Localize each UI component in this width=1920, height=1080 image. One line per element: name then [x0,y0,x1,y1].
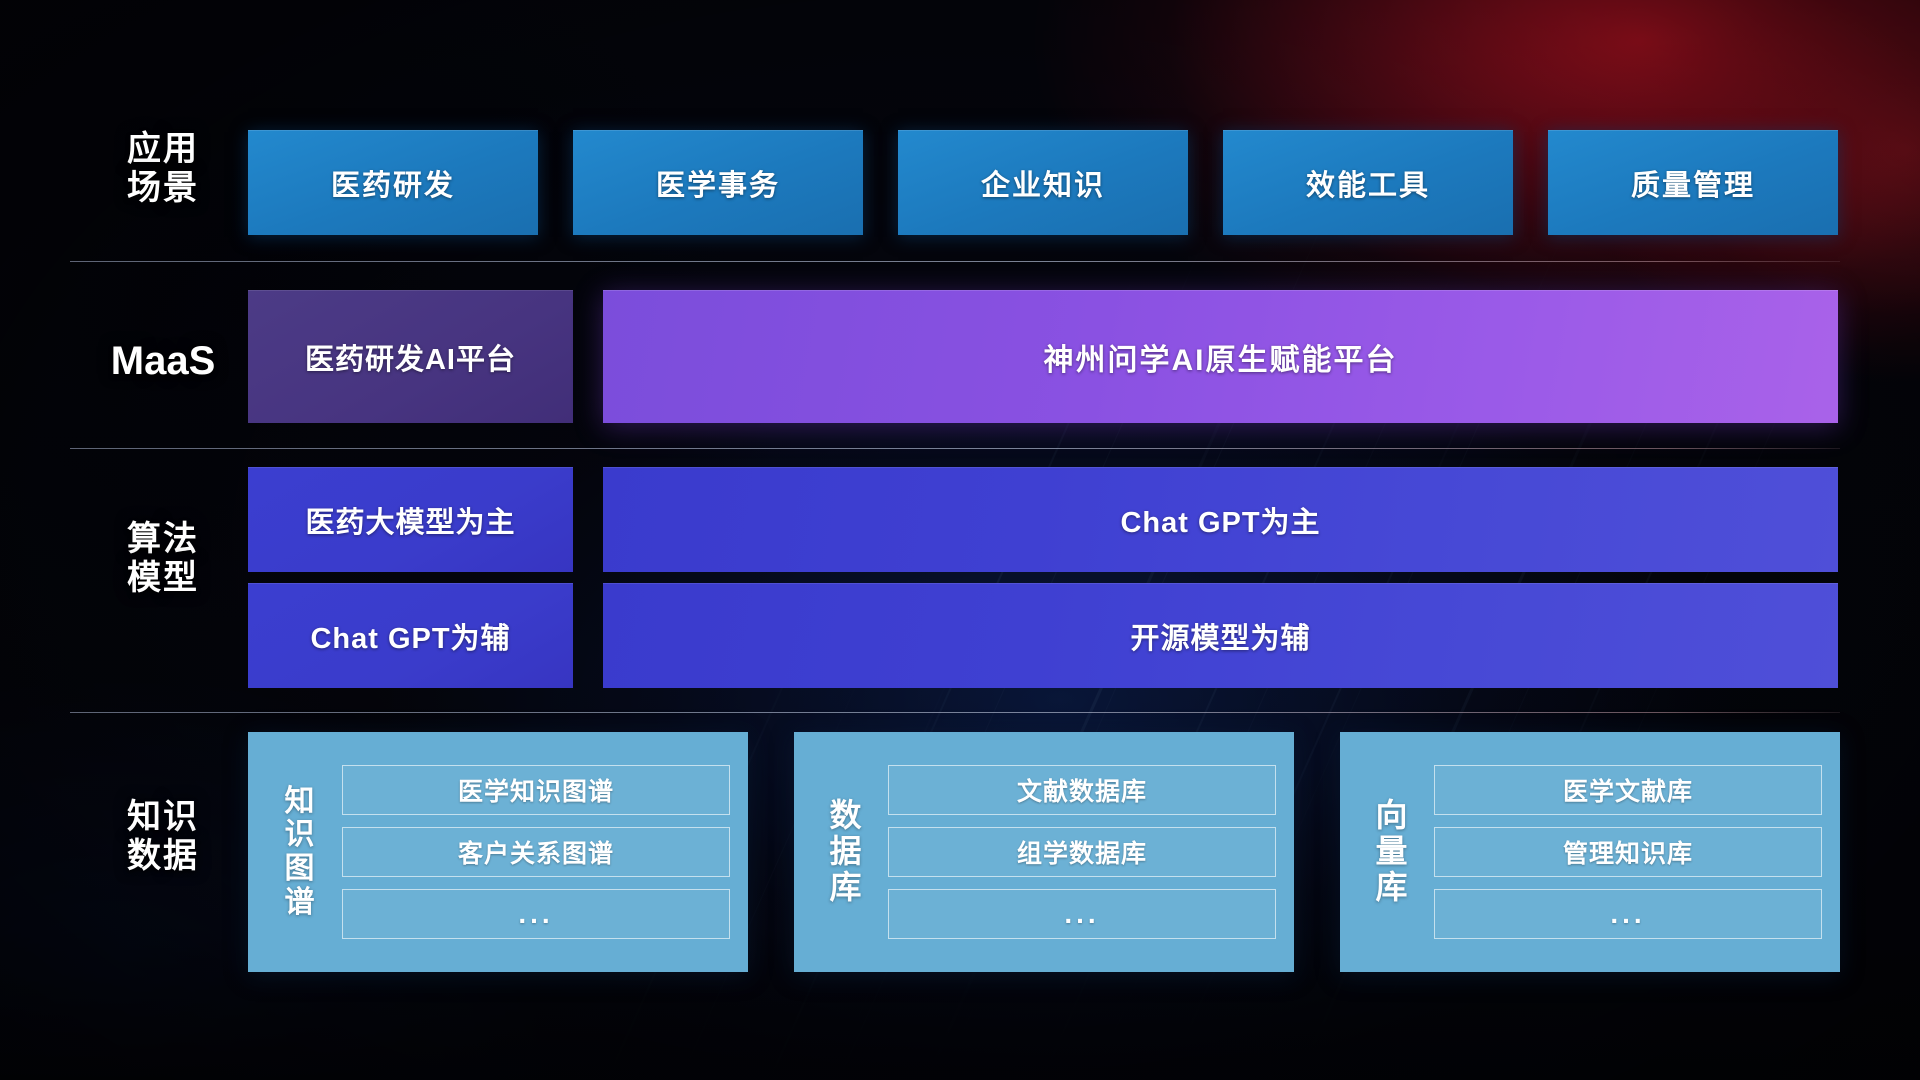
knowledge-panel-label-vertical: 数 据 库 [810,798,882,905]
knowledge-item[interactable]: 组学数据库 [888,827,1276,877]
vertical-label-char: 识 [264,818,336,852]
diagram-canvas: 应用 场景 医药研发 医学事务 企业知识 效能工具 质量管理 MaaS [0,0,1920,1080]
algorithm-box-0-0[interactable]: 医药大模型为主 [248,467,573,572]
tier-label-line: MaaS [88,338,238,384]
algorithm-label: Chat GPT为主 [1120,499,1320,541]
tier-label-line: 数据 [88,837,238,876]
maas-box-medical-ai-platform[interactable]: 医药研发AI平台 [248,290,573,423]
tier-label-application-scenarios: 应用 场景 [88,130,238,209]
vertical-label-char: 量 [1356,834,1428,870]
algorithm-box-0-1[interactable]: Chat GPT为主 [603,467,1838,572]
knowledge-panel-items: 文献数据库 组学数据库 ... [882,749,1294,955]
vertical-label-char: 谱 [264,886,336,920]
knowledge-panel-items: 医学文献库 管理知识库 ... [1428,749,1840,955]
tier-label-line: 知识 [88,798,238,837]
knowledge-item[interactable]: 医学知识图谱 [342,765,730,815]
tier-divider-1 [70,261,1840,262]
scenario-box-2[interactable]: 企业知识 [898,130,1188,235]
tier-divider-2 [70,448,1840,449]
tier-label-line: 应用 [88,130,238,169]
knowledge-item[interactable]: 文献数据库 [888,765,1276,815]
vertical-label-char: 库 [810,870,882,906]
scenario-label: 效能工具 [1306,162,1430,204]
tier-label-maas: MaaS [88,338,238,384]
knowledge-panel-label-vertical: 向 量 库 [1356,798,1428,905]
vertical-label-char: 图 [264,852,336,886]
vertical-label-char: 据 [810,834,882,870]
scenario-box-3[interactable]: 效能工具 [1223,130,1513,235]
tier-label-knowledge-data: 知识 数据 [88,798,238,877]
knowledge-panel-knowledge-graph[interactable]: 知 识 图 谱 医学知识图谱 客户关系图谱 ... [248,732,748,972]
scenario-label: 企业知识 [981,162,1105,204]
tier-label-line: 算法 [88,520,238,559]
maas-label: 医药研发AI平台 [305,336,516,378]
knowledge-item[interactable]: 客户关系图谱 [342,827,730,877]
vertical-label-char: 向 [1356,798,1428,834]
algorithm-box-1-0[interactable]: Chat GPT为辅 [248,583,573,688]
maas-label: 神州问学AI原生赋能平台 [1044,335,1398,379]
knowledge-panel-vector-store[interactable]: 向 量 库 医学文献库 管理知识库 ... [1340,732,1840,972]
scenario-label: 质量管理 [1631,162,1755,204]
algorithm-label: 医药大模型为主 [305,499,515,541]
scenario-box-0[interactable]: 医药研发 [248,130,538,235]
knowledge-panel-items: 医学知识图谱 客户关系图谱 ... [336,749,748,955]
scenario-label: 医学事务 [656,162,780,204]
vertical-label-char: 数 [810,798,882,834]
knowledge-item-more[interactable]: ... [1434,889,1822,939]
diagram-content: 应用 场景 医药研发 医学事务 企业知识 效能工具 质量管理 MaaS [0,0,1920,1080]
vertical-label-char: 库 [1356,870,1428,906]
scenario-box-4[interactable]: 质量管理 [1548,130,1838,235]
tier-label-line: 模型 [88,559,238,598]
algorithm-box-1-1[interactable]: 开源模型为辅 [603,583,1838,688]
tier-label-line: 场景 [88,169,238,208]
scenario-box-1[interactable]: 医学事务 [573,130,863,235]
knowledge-item[interactable]: 医学文献库 [1434,765,1822,815]
vertical-label-char: 知 [264,785,336,819]
knowledge-item-more[interactable]: ... [342,889,730,939]
tier-divider-3 [70,712,1840,713]
scenario-label: 医药研发 [331,162,455,204]
algorithm-label: Chat GPT为辅 [310,615,510,657]
tier-label-algorithm-model: 算法 模型 [88,520,238,599]
knowledge-panel-label-vertical: 知 识 图 谱 [264,785,336,919]
knowledge-panel-database[interactable]: 数 据 库 文献数据库 组学数据库 ... [794,732,1294,972]
knowledge-item-more[interactable]: ... [888,889,1276,939]
algorithm-label: 开源模型为辅 [1130,615,1310,657]
maas-box-shenzhou-platform[interactable]: 神州问学AI原生赋能平台 [603,290,1838,423]
knowledge-item[interactable]: 管理知识库 [1434,827,1822,877]
